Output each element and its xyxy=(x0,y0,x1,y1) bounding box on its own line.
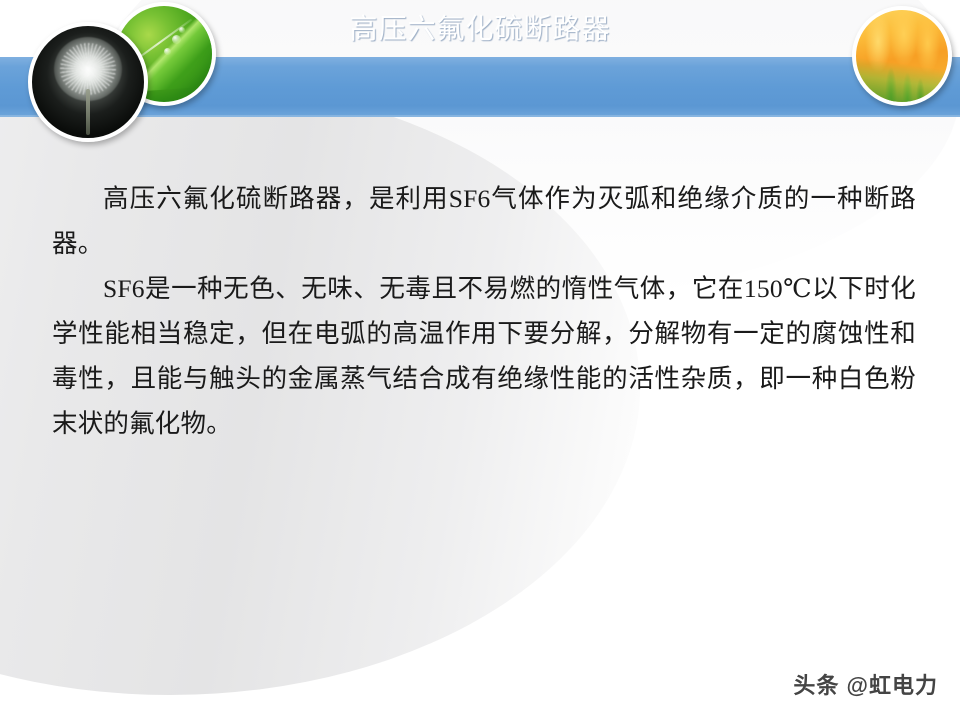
tulip-leaves-shape xyxy=(856,45,948,102)
watermark-label: 头条 @虹电力 xyxy=(793,668,938,700)
tulip-photo xyxy=(852,6,952,106)
paragraph-properties: SF6是一种无色、无味、无毒且不易燃的惰性气体，它在150℃以下时化学性能相当稳… xyxy=(52,266,916,446)
dew-drop-icon xyxy=(172,35,181,44)
dandelion-photo xyxy=(28,22,148,142)
slide-canvas: 高压六氟化硫断路器 高压六氟化硫断路器，是利用SF6气体作为灭弧和绝缘介质的一种… xyxy=(0,0,960,720)
dandelion-stem-shape xyxy=(86,89,90,135)
paragraph-definition: 高压六氟化硫断路器，是利用SF6气体作为灭弧和绝缘介质的一种断路器。 xyxy=(52,176,916,266)
body-content: 高压六氟化硫断路器，是利用SF6气体作为灭弧和绝缘介质的一种断路器。 SF6是一… xyxy=(52,176,916,446)
